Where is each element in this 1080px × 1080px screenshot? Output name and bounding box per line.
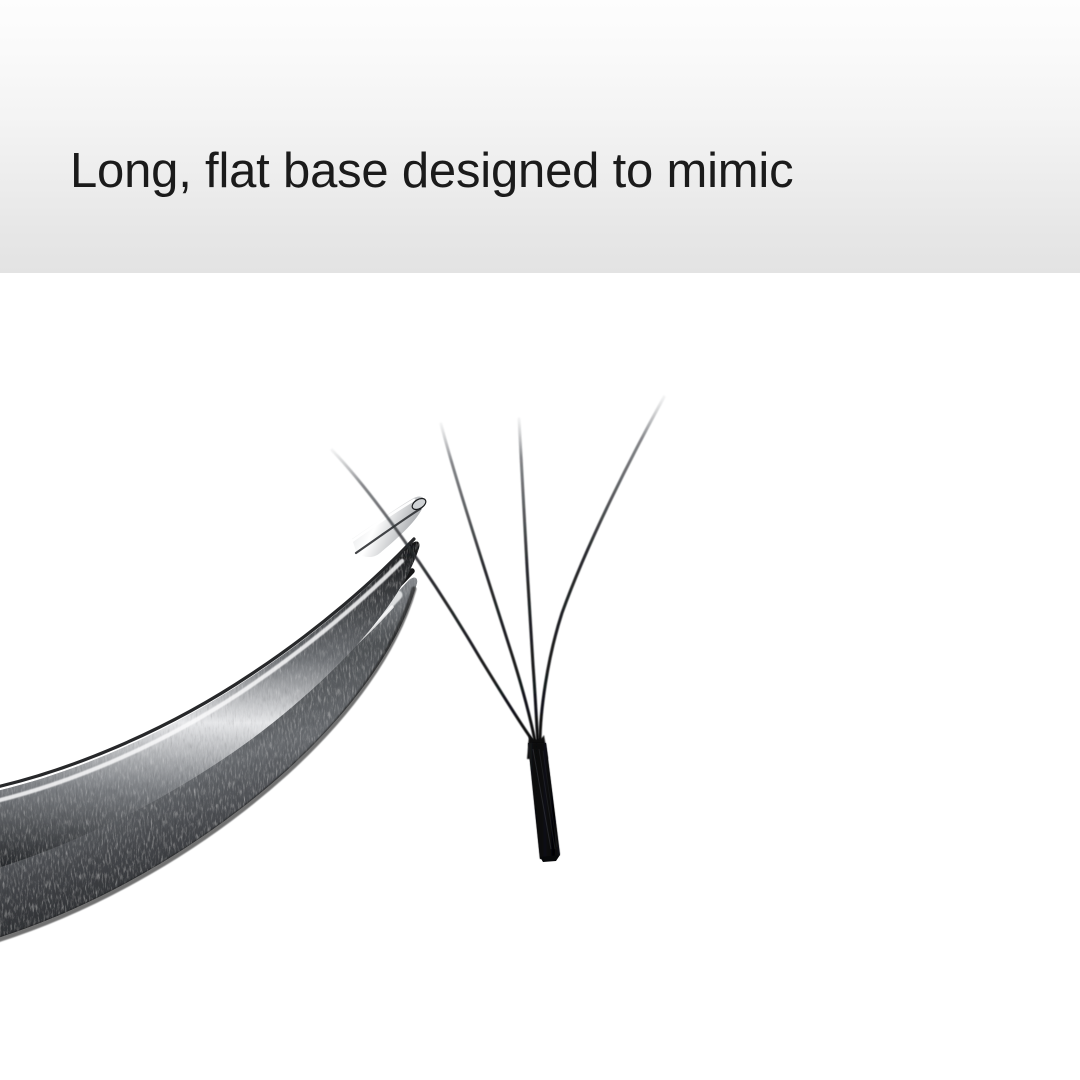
headline-banner: Long, flat base designed to mimic classi… [0, 0, 1080, 273]
product-feature-panel: Long, flat base designed to mimic classi… [0, 0, 1080, 1080]
lash-fan-photo-illustration [0, 273, 1080, 1080]
headline-line-1: Long, flat base designed to mimic [70, 144, 793, 198]
product-photo [0, 273, 1080, 1080]
photo-backdrop [0, 273, 1080, 1080]
